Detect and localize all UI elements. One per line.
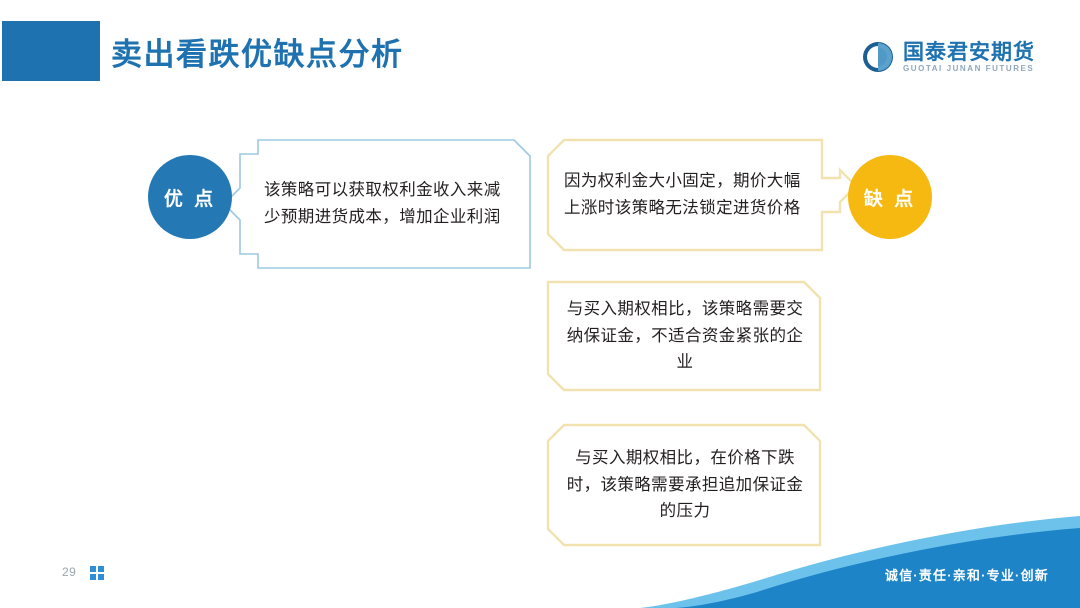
cons-callout-box-1: 因为权利金大小固定，期价大幅上涨时该策略无法锁定进货价格 bbox=[548, 140, 858, 250]
slide-canvas: 卖出看跌优缺点分析 国泰君安期货 GUOTAI JUNAN FUTURES 该策… bbox=[0, 0, 1080, 608]
cons-badge-label: 缺 点 bbox=[864, 184, 916, 211]
guotai-junan-circle-logo-icon bbox=[862, 41, 894, 73]
pros-badge-label: 优 点 bbox=[164, 184, 216, 211]
grid-cell bbox=[98, 574, 104, 580]
grid-four-squares-icon bbox=[90, 566, 104, 580]
page-number: 29 bbox=[62, 565, 76, 579]
grid-cell bbox=[98, 566, 104, 572]
cons-badge: 缺 点 bbox=[848, 155, 932, 239]
pros-callout-text-1: 该策略可以获取权利金收入来减少预期进货成本，增加企业利润 bbox=[222, 177, 530, 230]
cons-callout-box-3: 与买入期权相比，在价格下跌时，该策略需要承担追加保证金的压力 bbox=[548, 425, 820, 545]
pros-badge: 优 点 bbox=[148, 155, 232, 239]
footer-slogan: 诚信·责任·亲和·专业·创新 bbox=[885, 565, 1049, 584]
header-accent-block bbox=[2, 21, 100, 81]
grid-cell bbox=[90, 566, 96, 572]
cons-callout-text-3: 与买入期权相比，在价格下跌时，该策略需要承担追加保证金的压力 bbox=[548, 445, 820, 525]
cons-callout-text-1: 因为权利金大小固定，期价大幅上涨时该策略无法锁定进货价格 bbox=[548, 168, 858, 221]
logo-name-en: GUOTAI JUNAN FUTURES bbox=[903, 65, 1035, 73]
pros-callout-box-1: 该策略可以获取权利金收入来减少预期进货成本，增加企业利润 bbox=[222, 140, 530, 268]
cons-callout-box-2: 与买入期权相比，该策略需要交纳保证金，不适合资金紧张的企业 bbox=[548, 282, 820, 390]
grid-cell bbox=[90, 574, 96, 580]
brand-logo: 国泰君安期货 GUOTAI JUNAN FUTURES bbox=[862, 41, 1035, 73]
logo-name-cn: 国泰君安期货 bbox=[903, 42, 1035, 63]
footer-swoosh-decoration bbox=[0, 0, 1080, 608]
cons-callout-text-2: 与买入期权相比，该策略需要交纳保证金，不适合资金紧张的企业 bbox=[548, 296, 820, 376]
page-title: 卖出看跌优缺点分析 bbox=[111, 29, 404, 74]
